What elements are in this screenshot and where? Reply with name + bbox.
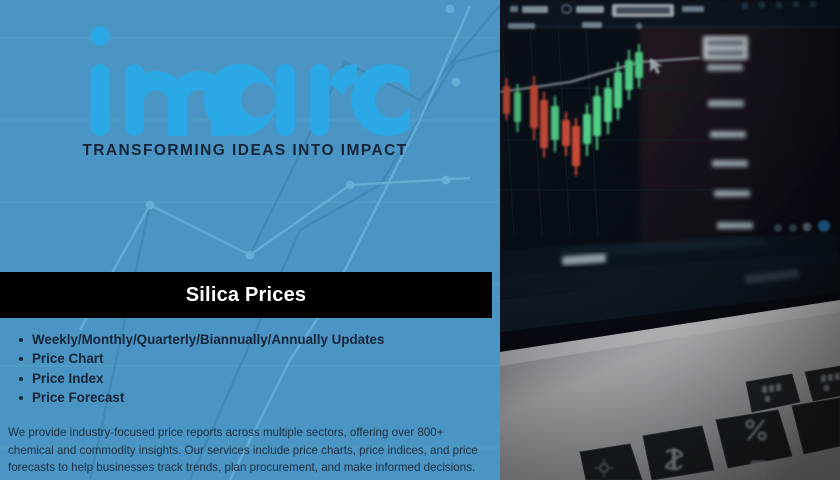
logo-tagline: TRANSFORMING IDEAS INTO IMPACT [0,142,490,160]
price-report-banner: TRANSFORMING IDEAS INTO IMPACT Silica Pr… [0,0,840,480]
left-content-panel: TRANSFORMING IDEAS INTO IMPACT Silica Pr… [0,0,500,480]
feature-list: Weekly/Monthly/Quarterly/Biannually/Annu… [0,330,500,408]
list-item: Price Forecast [32,388,500,407]
list-item: Price Index [32,369,500,388]
description-paragraph: We provide industry-focused price report… [8,424,492,477]
imarc-logo: TRANSFORMING IDEAS INTO IMPACT [0,18,490,160]
laptop-trading-photo [500,0,840,480]
imarc-wordmark-icon [80,18,410,136]
page-title: Silica Prices [186,284,306,307]
list-item: Weekly/Monthly/Quarterly/Biannually/Annu… [32,330,500,349]
list-item: Price Chart [32,349,500,368]
title-bar: Silica Prices [0,272,492,318]
